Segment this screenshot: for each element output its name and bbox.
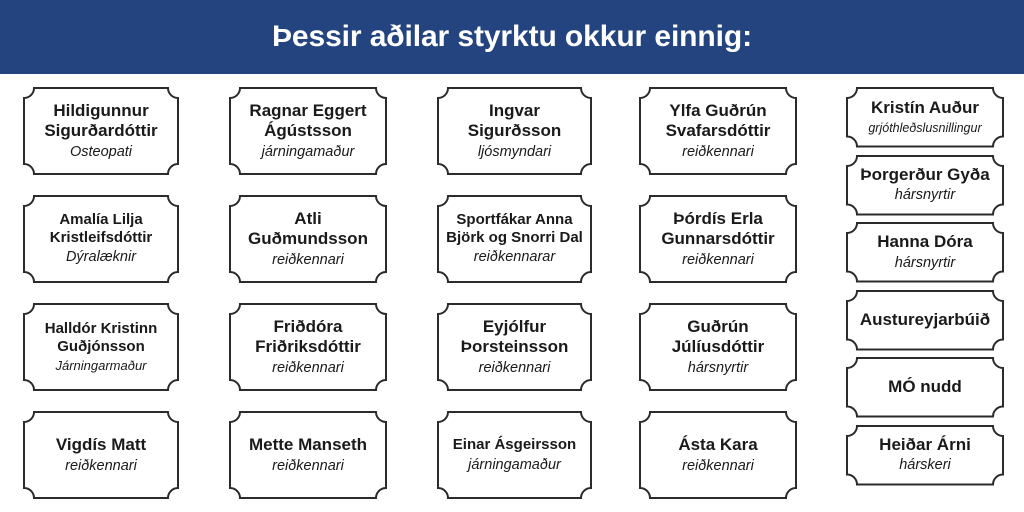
plaque-column-3: Ingvar SigurðssonljósmyndariSportfákar A… [436,74,593,512]
sponsor-plaque: Vigdís Mattreiðkennari [22,410,180,500]
plaque-text-block: Sportfákar Anna Björk og Snorri Dalreiðk… [446,211,583,266]
sponsor-name: Halldór Kristinn Guðjónsson [32,320,170,355]
sponsor-role: reiðkennari [648,144,788,161]
plaque-text-block: Friðdóra Friðriksdóttirreiðkennari [238,317,378,377]
sponsor-plaque: Guðrún Júlíusdóttirhársnyrtir [638,302,798,392]
sponsor-name: Ylfa Guðrún Svafarsdóttir [648,101,788,141]
sponsor-plaque: Atli Guðmundssonreiðkennari [228,194,388,284]
sponsor-role: Dýralæknir [32,249,170,266]
sponsor-role: hársnyrtir [855,255,995,272]
sponsor-role: grjóthleðslusnillingur [855,121,995,136]
sponsor-plaque: Mette Mansethreiðkennari [228,410,388,500]
plaque-text-block: Eyjólfur Þorsteinssonreiðkennari [446,317,583,377]
plaque-text-block: Ásta Karareiðkennari [648,435,788,475]
plaque-text-block: Ragnar Eggert Ágústssonjárningamaður [238,101,378,161]
sponsor-name: Amalía Lilja Kristleifsdóttir [32,211,170,246]
plaque-text-block: Halldór Kristinn GuðjónssonJárningarmaðu… [32,320,170,374]
sponsor-plaque: Ragnar Eggert Ágústssonjárningamaður [228,86,388,176]
sponsor-role: hársnyrtir [648,360,788,377]
sponsor-role: reiðkennari [446,360,583,377]
plaque-text-block: Ylfa Guðrún Svafarsdóttirreiðkennari [648,101,788,161]
plaque-text-block: Einar Ásgeirssonjárningamaður [446,436,583,474]
plaque-text-block: Þorgerður Gyðahársnyrtir [855,165,995,205]
sponsor-role: hársnyrtir [855,187,995,204]
sponsor-role: Osteopati [32,144,170,161]
sponsor-plaque-board: Hildigunnur SigurðardóttirOsteopatiAmalí… [0,74,1024,512]
sponsor-name: Atli Guðmundsson [238,209,378,249]
sponsor-name: Sportfákar Anna Björk og Snorri Dal [446,211,583,246]
sponsor-name: Friðdóra Friðriksdóttir [238,317,378,357]
sponsor-role: reiðkennari [238,360,378,377]
sponsor-plaque: Amalía Lilja KristleifsdóttirDýralæknir [22,194,180,284]
plaque-column-4: Ylfa Guðrún SvafarsdóttirreiðkennariÞórd… [638,74,798,512]
plaque-text-block: Mette Mansethreiðkennari [238,435,378,475]
sponsor-plaque: MÓ nudd [845,356,1005,419]
plaque-text-block: Hanna Dórahársnyrtir [855,232,995,272]
sponsor-name: Kristín Auður [855,98,995,118]
sponsor-role: hárskeri [855,457,995,474]
plaque-column-5: Kristín AuðurgrjóthleðslusnillingurÞorge… [845,74,1005,512]
sponsor-plaque: Ásta Karareiðkennari [638,410,798,500]
sponsor-plaque: Þorgerður Gyðahársnyrtir [845,154,1005,217]
sponsor-name: MÓ nudd [855,377,995,397]
sponsor-role: reiðkennari [238,458,378,475]
sponsor-name: Vigdís Matt [32,435,170,455]
sponsor-name: Hildigunnur Sigurðardóttir [32,101,170,141]
sponsor-name: Guðrún Júlíusdóttir [648,317,788,357]
sponsor-role: reiðkennari [648,458,788,475]
plaque-text-block: Amalía Lilja KristleifsdóttirDýralæknir [32,211,170,266]
sponsor-name: Ásta Kara [648,435,788,455]
sponsor-plaque: Ingvar Sigurðssonljósmyndari [436,86,593,176]
sponsor-name: Eyjólfur Þorsteinsson [446,317,583,357]
sponsor-name: Þórdís Erla Gunnarsdóttir [648,209,788,249]
sponsor-name: Ragnar Eggert Ágústsson [238,101,378,141]
sponsor-plaque: Kristín Auðurgrjóthleðslusnillingur [845,86,1005,149]
plaque-column-1: Hildigunnur SigurðardóttirOsteopatiAmalí… [22,74,180,512]
sponsor-name: Mette Manseth [238,435,378,455]
sponsor-plaque: Heiðar Árnihárskeri [845,424,1005,487]
sponsor-role: reiðkennari [32,458,170,475]
plaque-text-block: Ingvar Sigurðssonljósmyndari [446,101,583,161]
plaque-text-block: Atli Guðmundssonreiðkennari [238,209,378,269]
plaque-text-block: Guðrún Júlíusdóttirhársnyrtir [648,317,788,377]
plaque-text-block: Heiðar Árnihárskeri [855,435,995,475]
plaque-text-block: Vigdís Mattreiðkennari [32,435,170,475]
sponsor-role: járningamaður [238,144,378,161]
sponsor-name: Hanna Dóra [855,232,995,252]
plaque-text-block: Hildigunnur SigurðardóttirOsteopati [32,101,170,161]
sponsor-role: járningamaður [446,457,583,474]
sponsor-role: reiðkennarar [446,249,583,266]
plaque-text-block: Kristín Auðurgrjóthleðslusnillingur [855,98,995,136]
header-band: Þessir aðilar styrktu okkur einnig: [0,0,1024,74]
sponsor-plaque: Hanna Dórahársnyrtir [845,221,1005,284]
sponsor-role: reiðkennari [238,252,378,269]
sponsor-plaque: Austureyjarbúið [845,289,1005,352]
sponsor-role: reiðkennari [648,252,788,269]
plaque-column-2: Ragnar Eggert ÁgústssonjárningamaðurAtli… [228,74,388,512]
sponsor-plaque: Eyjólfur Þorsteinssonreiðkennari [436,302,593,392]
plaque-text-block: Þórdís Erla Gunnarsdóttirreiðkennari [648,209,788,269]
page-title: Þessir aðilar styrktu okkur einnig: [272,22,752,52]
sponsor-plaque: Sportfákar Anna Björk og Snorri Dalreiðk… [436,194,593,284]
sponsor-plaque: Friðdóra Friðriksdóttirreiðkennari [228,302,388,392]
sponsor-name: Ingvar Sigurðsson [446,101,583,141]
sponsor-name: Austureyjarbúið [855,310,995,330]
sponsor-plaque: Hildigunnur SigurðardóttirOsteopati [22,86,180,176]
sponsor-name: Einar Ásgeirsson [446,436,583,454]
sponsor-role: Járningarmaður [32,358,170,374]
sponsor-plaque: Þórdís Erla Gunnarsdóttirreiðkennari [638,194,798,284]
sponsor-name: Þorgerður Gyða [855,165,995,185]
plaque-text-block: Austureyjarbúið [855,310,995,330]
sponsor-plaque: Halldór Kristinn GuðjónssonJárningarmaðu… [22,302,180,392]
plaque-text-block: MÓ nudd [855,377,995,397]
sponsor-role: ljósmyndari [446,144,583,161]
sponsor-plaque: Einar Ásgeirssonjárningamaður [436,410,593,500]
sponsor-plaque: Ylfa Guðrún Svafarsdóttirreiðkennari [638,86,798,176]
sponsor-name: Heiðar Árni [855,435,995,455]
